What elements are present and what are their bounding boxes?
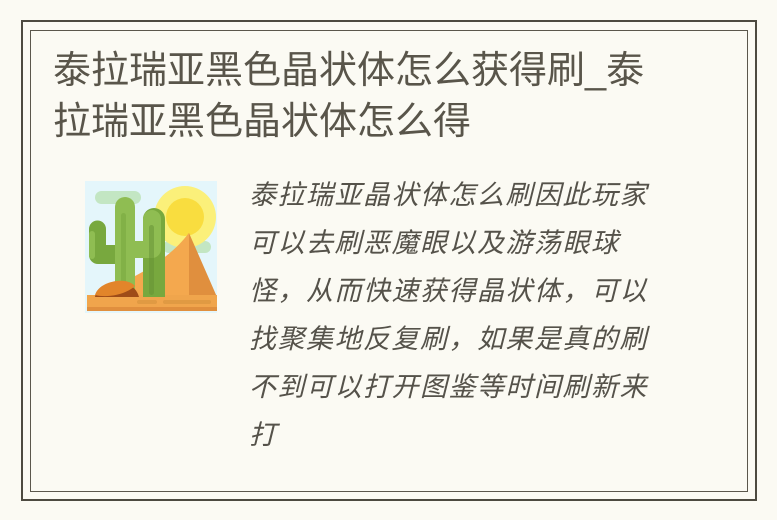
article-page: 泰拉瑞亚黑色晶状体怎么获得刷_泰拉瑞亚黑色晶状体怎么得 [0, 0, 777, 520]
outer-frame-border: 泰拉瑞亚黑色晶状体怎么获得刷_泰拉瑞亚黑色晶状体怎么得 [21, 20, 757, 501]
article-body-block: 泰拉瑞亚晶状体怎么刷因此玩家可以去刷恶魔眼以及游荡眼球怪，从而快速获得晶状体，可… [51, 172, 727, 460]
page-content: 泰拉瑞亚黑色晶状体怎么获得刷_泰拉瑞亚黑色晶状体怎么得 [23, 22, 755, 499]
page-title: 泰拉瑞亚黑色晶状体怎么获得刷_泰拉瑞亚黑色晶状体怎么得 [53, 46, 653, 148]
thumbnail-image [77, 175, 225, 323]
desert-cactus-illustration-icon [77, 175, 225, 323]
article-body-text: 泰拉瑞亚晶状体怎么刷因此玩家可以去刷恶魔眼以及游荡眼球怪，从而快速获得晶状体，可… [249, 172, 669, 460]
